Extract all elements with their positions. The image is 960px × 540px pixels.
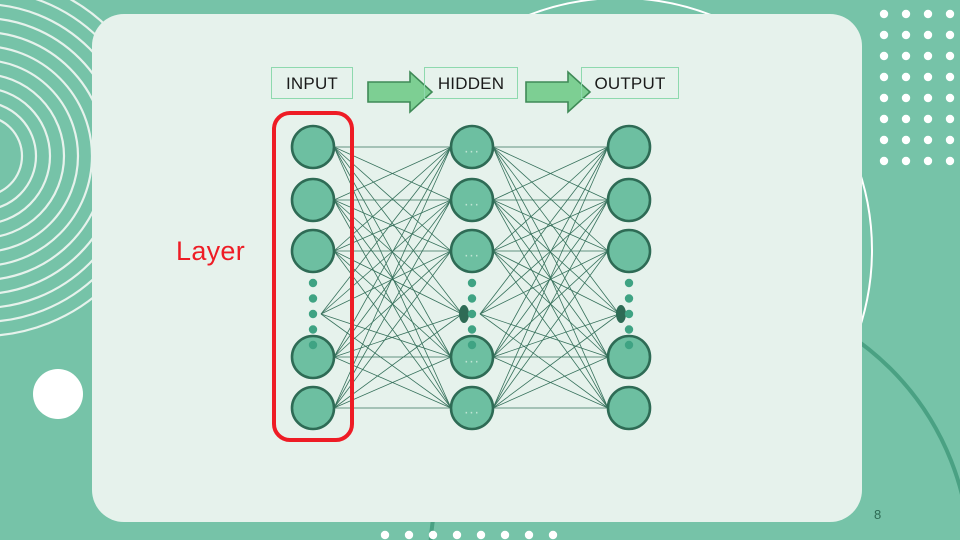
- node-circle: [608, 126, 650, 168]
- network-edge: [493, 200, 619, 314]
- node-label: ...: [464, 193, 480, 210]
- edge-convergence-marker: [459, 305, 469, 323]
- network-node[interactable]: [292, 179, 334, 221]
- dot-grid-decoration: [880, 10, 954, 165]
- ellipsis-dot: [468, 294, 476, 302]
- ellipsis-dot: [309, 279, 317, 287]
- stage-box-output[interactable]: OUTPUT: [581, 67, 679, 99]
- stage-box-input[interactable]: INPUT: [271, 67, 353, 99]
- layer-annotation-label: Layer: [176, 238, 245, 265]
- network-node[interactable]: [608, 387, 650, 429]
- grid-dot: [946, 52, 954, 60]
- ellipsis-dot: [625, 325, 633, 333]
- grid-dot: [880, 73, 888, 81]
- bottom-dot: [549, 531, 557, 539]
- grid-dot: [880, 31, 888, 39]
- stage-box-hidden[interactable]: HIDDEN: [424, 67, 518, 99]
- grid-dot: [946, 136, 954, 144]
- bottom-dot: [429, 531, 437, 539]
- bottom-dot: [405, 531, 413, 539]
- node-label: ...: [464, 140, 480, 157]
- grid-dot: [880, 10, 888, 18]
- network-edge: [321, 147, 451, 314]
- ellipsis-dot: [468, 325, 476, 333]
- grid-dot: [946, 31, 954, 39]
- grid-dot: [946, 115, 954, 123]
- bottom-dot: [501, 531, 509, 539]
- grid-dot: [902, 157, 910, 165]
- stage-label-hidden: HIDDEN: [438, 75, 504, 92]
- ellipsis-dot: [309, 325, 317, 333]
- arrow-input-to-hidden: [368, 72, 432, 112]
- grid-dot: [880, 157, 888, 165]
- grid-dot: [902, 136, 910, 144]
- grid-dot: [946, 157, 954, 165]
- network-node[interactable]: [608, 230, 650, 272]
- node-circle: [608, 230, 650, 272]
- ellipsis-dot: [468, 279, 476, 287]
- network-edge: [480, 147, 608, 314]
- network-edge: [480, 251, 608, 314]
- grid-dot: [946, 10, 954, 18]
- network-edge: [493, 147, 619, 314]
- ellipsis-dot: [625, 341, 633, 349]
- bottom-dot-row-decoration: [381, 531, 557, 539]
- grid-dot: [902, 31, 910, 39]
- network-node[interactable]: [608, 179, 650, 221]
- ellipsis-dot: [309, 341, 317, 349]
- network-node[interactable]: ...: [451, 126, 493, 168]
- grid-dot: [902, 94, 910, 102]
- bottom-dot: [525, 531, 533, 539]
- network-node[interactable]: ...: [451, 230, 493, 272]
- edge-convergence-marker: [616, 305, 626, 323]
- network-node[interactable]: [608, 126, 650, 168]
- node-label: ...: [464, 350, 480, 367]
- ellipsis-dot: [468, 310, 476, 318]
- node-label: ...: [464, 401, 480, 418]
- circle-decoration: [33, 369, 83, 419]
- grid-dot: [924, 10, 932, 18]
- ellipsis-dot: [625, 310, 633, 318]
- network-edge: [321, 251, 451, 314]
- grid-dot: [880, 136, 888, 144]
- bottom-dot: [381, 531, 389, 539]
- network-node[interactable]: [292, 387, 334, 429]
- node-circle: [292, 387, 334, 429]
- bottom-dot: [477, 531, 485, 539]
- grid-dot: [946, 73, 954, 81]
- network-edge: [493, 314, 619, 357]
- grid-dot: [902, 115, 910, 123]
- node-label: ...: [464, 244, 480, 261]
- grid-dot: [902, 52, 910, 60]
- network-node[interactable]: ...: [451, 179, 493, 221]
- network-node[interactable]: [292, 126, 334, 168]
- ellipsis-dot: [309, 310, 317, 318]
- grid-dot: [946, 94, 954, 102]
- node-circle: [608, 387, 650, 429]
- grid-dot: [924, 73, 932, 81]
- slide-canvas: ............... INPUT HIDDEN OUTPUT Laye…: [0, 0, 960, 540]
- network-edge: [493, 251, 619, 314]
- grid-dot: [924, 94, 932, 102]
- stage-label-input: INPUT: [286, 75, 338, 92]
- node-circle: [292, 230, 334, 272]
- ellipsis-dot: [625, 294, 633, 302]
- grid-dot: [902, 10, 910, 18]
- grid-dot: [880, 115, 888, 123]
- grid-dot: [924, 157, 932, 165]
- grid-dot: [880, 94, 888, 102]
- network-node[interactable]: [292, 230, 334, 272]
- node-circle: [292, 179, 334, 221]
- grid-dot: [924, 52, 932, 60]
- node-circle: [608, 179, 650, 221]
- ellipsis-dot: [625, 279, 633, 287]
- grid-dot: [924, 136, 932, 144]
- bottom-dot: [453, 531, 461, 539]
- page-number: 8: [874, 508, 881, 521]
- ellipsis-dot: [468, 341, 476, 349]
- ellipsis-dot: [309, 294, 317, 302]
- node-circle: [292, 126, 334, 168]
- grid-dot: [924, 31, 932, 39]
- stage-label-output: OUTPUT: [594, 75, 665, 92]
- grid-dot: [924, 115, 932, 123]
- grid-dot: [880, 52, 888, 60]
- grid-dot: [902, 73, 910, 81]
- network-nodes: ...............: [292, 126, 650, 429]
- network-node[interactable]: ...: [451, 387, 493, 429]
